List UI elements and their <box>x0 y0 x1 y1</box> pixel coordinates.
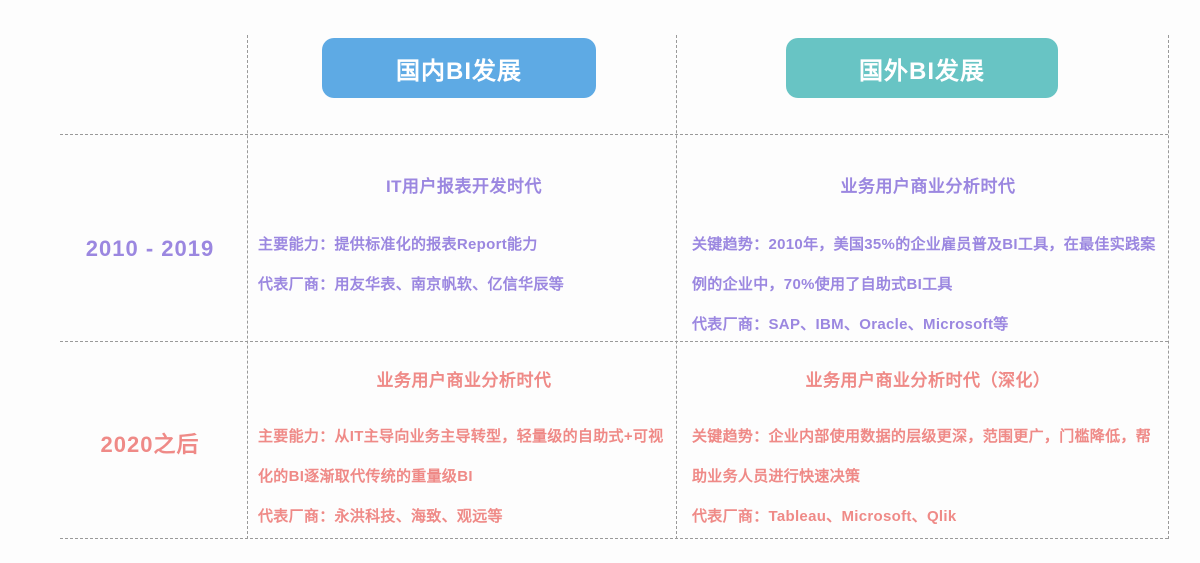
cell-row1-domestic: IT用户报表开发时代 主要能力：提供标准化的报表Report能力 代表厂商：用友… <box>258 172 670 305</box>
grid-horizontal-line-3 <box>60 538 1168 539</box>
cell-row1-overseas-body: 关键趋势：2010年，美国35%的企业雇员普及BI工具，在最佳实践案例的企业中，… <box>692 225 1164 345</box>
cell-row2-domestic-capability: 主要能力：从IT主导向业务主导转型，轻量级的自助式+可视化的BI逐渐取代传统的重… <box>258 417 670 497</box>
cell-row2-domestic-vendors: 代表厂商：永洪科技、海致、观远等 <box>258 497 670 537</box>
cell-row2-overseas-vendors: 代表厂商：Tableau、Microsoft、Qlik <box>692 497 1164 537</box>
cell-row1-domestic-vendors: 代表厂商：用友华表、南京帆软、亿信华辰等 <box>258 265 670 305</box>
cell-row2-domestic-title: 业务用户商业分析时代 <box>258 366 670 391</box>
column-header-overseas-label: 国外BI发展 <box>859 51 985 86</box>
cell-row1-domestic-title: IT用户报表开发时代 <box>258 172 670 197</box>
grid-vertical-line-2 <box>676 35 677 539</box>
cell-row1-overseas-title: 业务用户商业分析时代 <box>692 172 1164 197</box>
cell-row2-overseas: 业务用户商业分析时代（深化） 关键趋势：企业内部使用数据的层级更深，范围更广，门… <box>692 366 1164 537</box>
cell-row1-overseas: 业务用户商业分析时代 关键趋势：2010年，美国35%的企业雇员普及BI工具，在… <box>692 172 1164 345</box>
column-header-domestic-label: 国内BI发展 <box>396 51 522 86</box>
grid-vertical-line-3 <box>1168 35 1169 539</box>
grid-vertical-line-1 <box>247 35 248 539</box>
cell-row1-domestic-capability: 主要能力：提供标准化的报表Report能力 <box>258 225 670 265</box>
grid-horizontal-line-1 <box>60 134 1168 135</box>
column-header-overseas: 国外BI发展 <box>786 38 1058 98</box>
cell-row2-overseas-title: 业务用户商业分析时代（深化） <box>692 366 1164 391</box>
cell-row1-overseas-vendors: 代表厂商：SAP、IBM、Oracle、Microsoft等 <box>692 305 1164 345</box>
cell-row2-domestic-body: 主要能力：从IT主导向业务主导转型，轻量级的自助式+可视化的BI逐渐取代传统的重… <box>258 417 670 537</box>
cell-row2-overseas-body: 关键趋势：企业内部使用数据的层级更深，范围更广，门槛降低，帮助业务人员进行快速决… <box>692 417 1164 537</box>
cell-row2-domestic: 业务用户商业分析时代 主要能力：从IT主导向业务主导转型，轻量级的自助式+可视化… <box>258 366 670 537</box>
comparison-table: 国内BI发展 国外BI发展 2010 - 2019 2020之后 IT用户报表开… <box>0 0 1200 563</box>
row-label-2020-after: 2020之后 <box>60 427 240 459</box>
cell-row1-overseas-trend: 关键趋势：2010年，美国35%的企业雇员普及BI工具，在最佳实践案例的企业中，… <box>692 225 1164 305</box>
cell-row1-domestic-body: 主要能力：提供标准化的报表Report能力 代表厂商：用友华表、南京帆软、亿信华… <box>258 225 670 305</box>
cell-row2-overseas-trend: 关键趋势：企业内部使用数据的层级更深，范围更广，门槛降低，帮助业务人员进行快速决… <box>692 417 1164 497</box>
column-header-domestic: 国内BI发展 <box>322 38 596 98</box>
row-label-2010-2019: 2010 - 2019 <box>60 236 240 262</box>
